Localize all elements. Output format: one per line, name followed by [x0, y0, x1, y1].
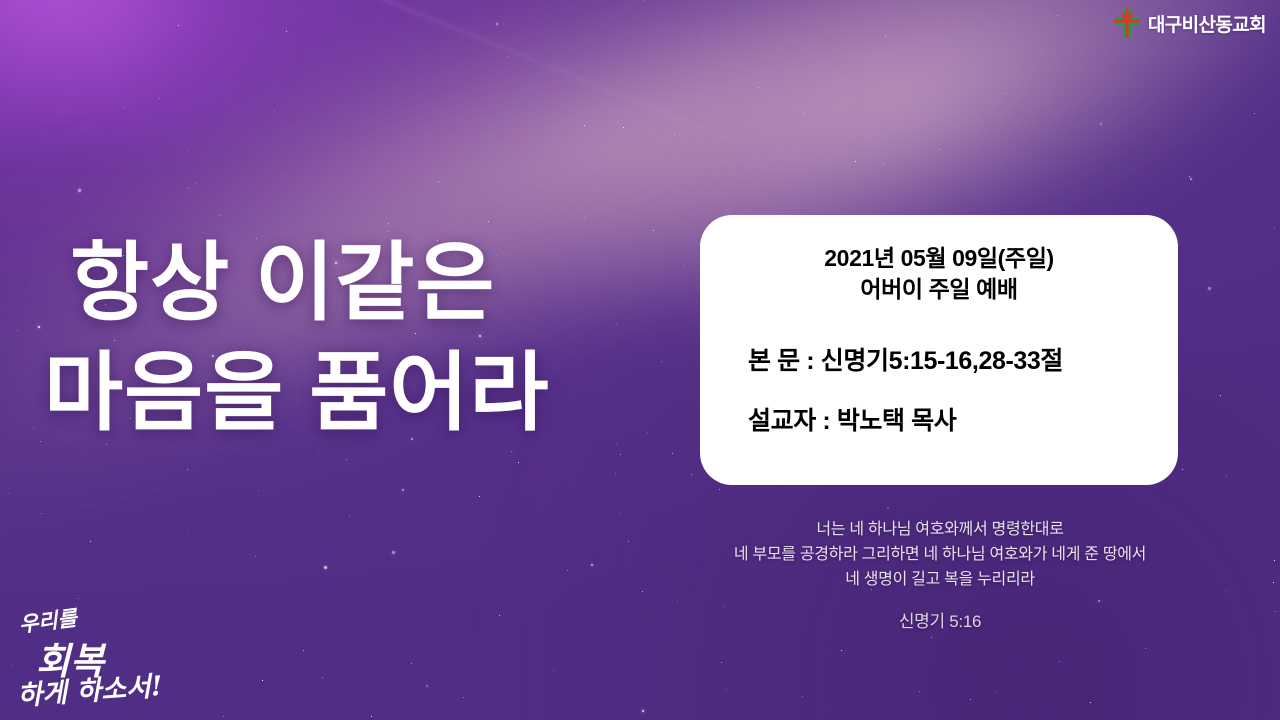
campaign-calligraphy: 우리를 회복 하게 하소서!: [6, 606, 192, 714]
scripture-line-3: 네 생명이 길고 복을 누리리라: [620, 568, 1260, 593]
service-date: 2021년 05월 09일(주일): [730, 243, 1148, 274]
cross-icon: [1113, 8, 1141, 38]
sermon-title-line-1: 항상 이같은: [70, 228, 550, 338]
service-info-card: 2021년 05월 09일(주일) 어버이 주일 예배 본 문 : 신명기5:1…: [700, 215, 1178, 485]
scripture-verse: 너는 네 하나님 여호와께서 명령한대로 네 부모를 공경하라 그리하면 네 하…: [620, 518, 1260, 592]
svg-text:우리를: 우리를: [18, 606, 80, 637]
church-logo: 대구비산동교회: [1113, 8, 1266, 38]
service-date-block: 2021년 05월 09일(주일) 어버이 주일 예배: [730, 243, 1148, 305]
scripture-passage-row: 본 문 : 신명기5:15-16,28-33절: [748, 341, 1148, 377]
service-details: 본 문 : 신명기5:15-16,28-33절 설교자 : 박노택 목사: [730, 341, 1148, 437]
scripture-line-2: 네 부모를 공경하라 그리하면 네 하나님 여호와가 네게 준 땅에서: [620, 543, 1260, 568]
scripture-line-1: 너는 네 하나님 여호와께서 명령한대로: [620, 518, 1260, 543]
preacher-row: 설교자 : 박노택 목사: [748, 401, 1148, 437]
sermon-title-line-2: 마음을 품어라: [44, 338, 550, 448]
sermon-title: 항상 이같은 마음을 품어라: [70, 228, 550, 448]
service-name: 어버이 주일 예배: [730, 274, 1148, 305]
scripture-reference: 신명기 5:16: [620, 607, 1260, 632]
worship-slide: 대구비산동교회 항상 이같은 마음을 품어라 2021년 05월 09일(주일)…: [0, 0, 1280, 720]
church-name: 대구비산동교회: [1148, 10, 1266, 37]
